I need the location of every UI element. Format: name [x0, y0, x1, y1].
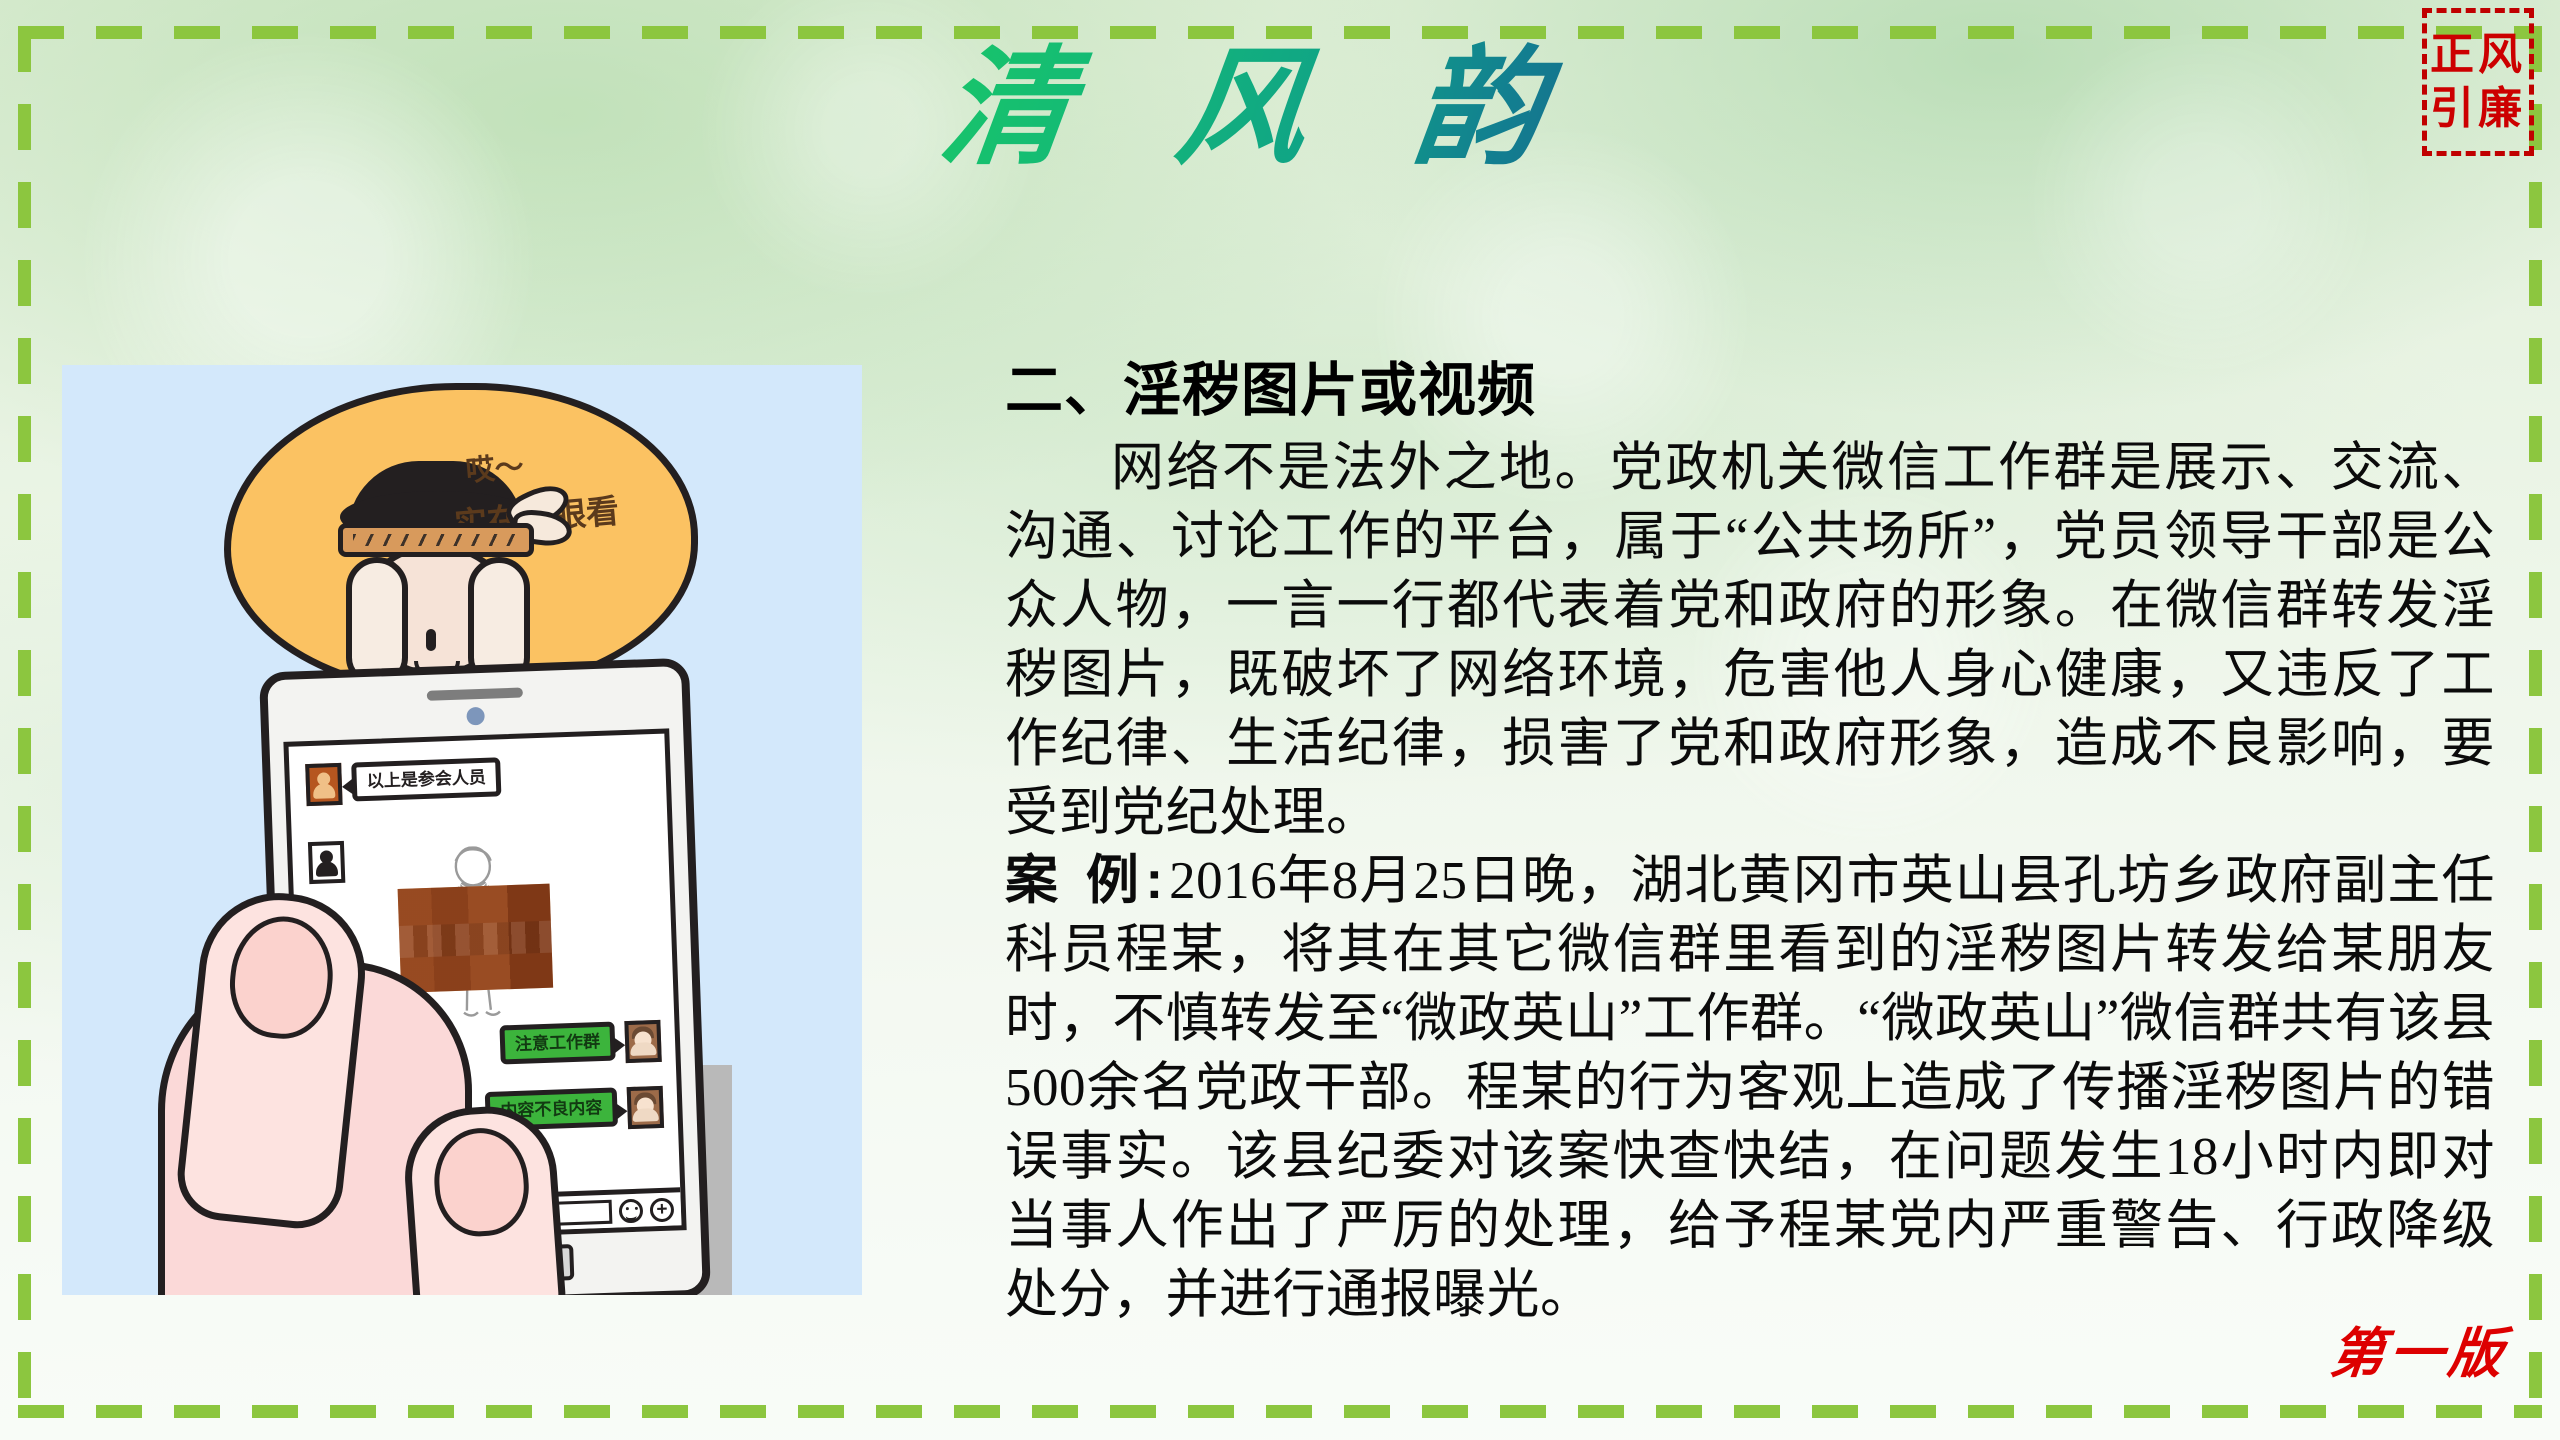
case-text: 2016年8月25日晚，湖北黄冈市英山县孔坊乡政府副主任科员程某，将其在其它微信…: [1005, 852, 2495, 1323]
chat-message-incoming: 以上是参会人员: [305, 757, 501, 806]
thumb-nail: [224, 911, 338, 1043]
character-hand-left: [346, 557, 408, 685]
article-heading: 二、淫秽图片或视频: [1005, 358, 2495, 424]
seal-line-1: 正风: [2430, 28, 2526, 82]
phone-speaker: [427, 688, 523, 701]
seal-stamp: 正风 引廉: [2422, 8, 2534, 156]
case-label: 案 例:: [1005, 851, 1169, 910]
censored-image: [398, 884, 554, 993]
hand-thumb: [173, 885, 373, 1233]
emoji-icon[interactable]: [619, 1198, 644, 1223]
frame-border-right: [2529, 26, 2542, 1418]
illustration-panel: 哎～ 实在没眼看 以上是参会人员: [62, 365, 862, 1295]
article-column: 二、淫秽图片或视频 网络不是法外之地。党政机关微信工作群是展示、交流、沟通、讨论…: [1005, 358, 2495, 1330]
newspaper-page: 清 风 韵 正风 引廉 哎～ 实在没眼看: [0, 0, 2560, 1440]
character-nose: [426, 629, 436, 651]
frame-border-left: [18, 26, 31, 1418]
finger-nail: [431, 1125, 532, 1239]
chat-message-image: [308, 841, 345, 884]
seal-line-2: 引廉: [2430, 82, 2526, 136]
character-headband: [338, 523, 534, 557]
plus-icon[interactable]: [650, 1197, 675, 1222]
article-paragraph-1: 网络不是法外之地。党政机关微信工作群是展示、交流、沟通、讨论工作的平台，属于“公…: [1005, 434, 2495, 847]
frame-border-top: [18, 26, 2542, 39]
chat-bubble-incoming-text: 以上是参会人员: [351, 757, 501, 801]
avatar: [308, 841, 345, 884]
page-title: 清 风 韵: [933, 34, 1628, 185]
avatar: [624, 1020, 661, 1063]
page-number-marker: 第一版: [2327, 1309, 2512, 1388]
avatar: [305, 763, 342, 806]
masthead: 清 风 韵: [0, 34, 2560, 185]
avatar: [627, 1086, 664, 1129]
article-case-paragraph: 案 例:2016年8月25日晚，湖北黄冈市英山县孔坊乡政府副主任科员程某，将其在…: [1005, 847, 2495, 1329]
frame-border-bottom: [18, 1405, 2542, 1418]
phone-camera-icon: [466, 707, 485, 726]
